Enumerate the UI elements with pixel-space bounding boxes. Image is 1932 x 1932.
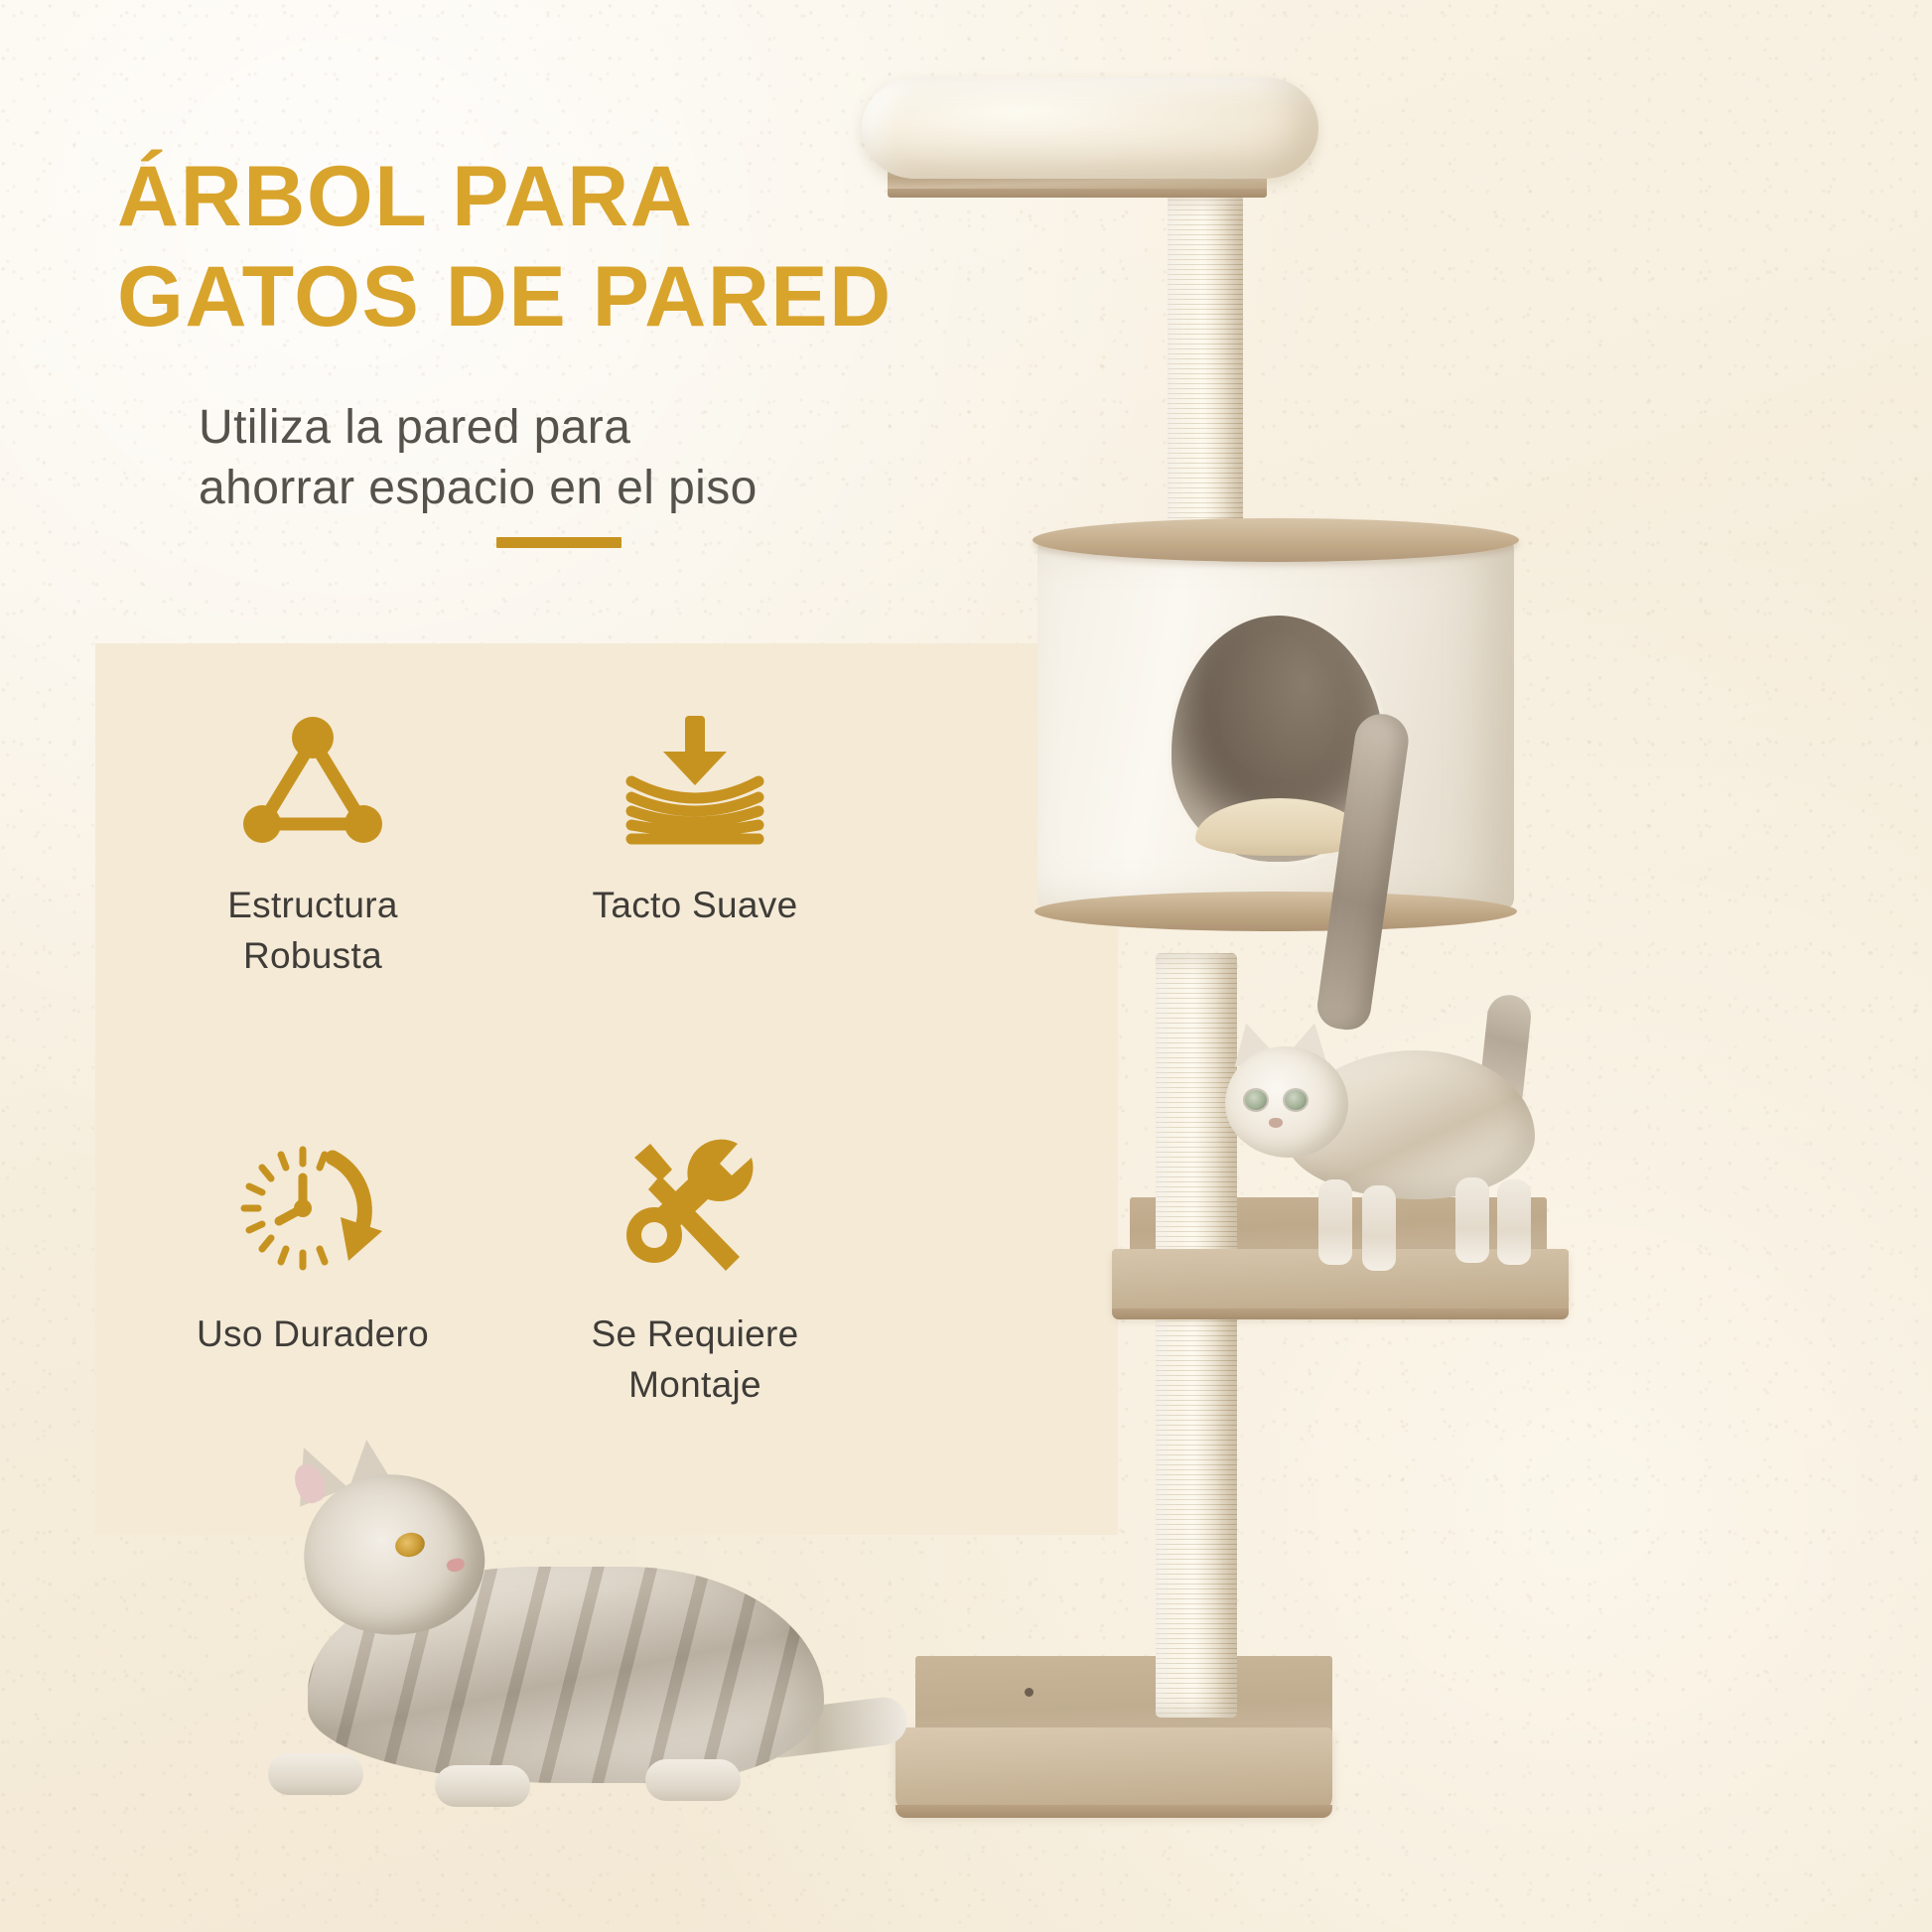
wrench-screwdriver-icon	[601, 1134, 789, 1283]
triangle-nodes-icon	[218, 705, 407, 854]
feature-label: Estructura Robusta	[154, 880, 472, 981]
arrow-into-layers-icon	[601, 705, 789, 854]
headline-line-2: GATOS DE PARED	[117, 247, 1090, 347]
condo-wood-base-rim	[1035, 892, 1517, 931]
feature-label: Uso Duradero	[154, 1309, 472, 1359]
lying-cat-paw	[268, 1753, 363, 1795]
base-board-edge	[896, 1805, 1332, 1818]
standing-cat	[1203, 1003, 1561, 1301]
page-subtitle: Utiliza la pared para ahorrar espacio en…	[199, 397, 1092, 519]
feature-item-uso-duradero: Uso Duradero	[154, 1134, 472, 1359]
headline-line-1: ÁRBOL PARA	[117, 147, 1090, 247]
mid-platform-edge	[1112, 1309, 1569, 1319]
standing-cat-eye	[1285, 1090, 1307, 1110]
page-title: ÁRBOL PARA GATOS DE PARED	[117, 147, 1090, 346]
standing-cat-leg	[1362, 1185, 1396, 1271]
clock-arrow-icon	[218, 1134, 407, 1283]
feature-item-tacto-suave: Tacto Suave	[536, 705, 854, 930]
lying-cat-paw	[645, 1759, 741, 1801]
infographic-canvas: ÁRBOL PARA GATOS DE PARED Utiliza la par…	[0, 0, 1932, 1932]
wood-base-board	[896, 1727, 1332, 1813]
subtitle-line-2: ahorrar espacio en el piso	[199, 458, 1092, 518]
subtitle-line-1: Utiliza la pared para	[199, 397, 1092, 458]
standing-cat-leg	[1497, 1179, 1531, 1265]
feature-label: Se Requiere Montaje	[536, 1309, 854, 1410]
standing-cat-leg	[1455, 1177, 1489, 1263]
title-divider	[496, 537, 621, 548]
standing-cat-nose	[1269, 1118, 1283, 1128]
lying-cat	[248, 1438, 884, 1835]
standing-cat-eye	[1245, 1090, 1267, 1110]
base-screw-hole	[1025, 1688, 1034, 1697]
upper-sisal-post	[1168, 195, 1243, 542]
condo-wood-lid	[1033, 518, 1519, 562]
feature-item-se-requiere-montaje: Se Requiere Montaje	[536, 1134, 854, 1410]
feature-item-estructura-robusta: Estructura Robusta	[154, 705, 472, 981]
feature-label: Tacto Suave	[536, 880, 854, 930]
standing-cat-leg	[1318, 1179, 1352, 1265]
lying-cat-paw	[435, 1765, 530, 1807]
